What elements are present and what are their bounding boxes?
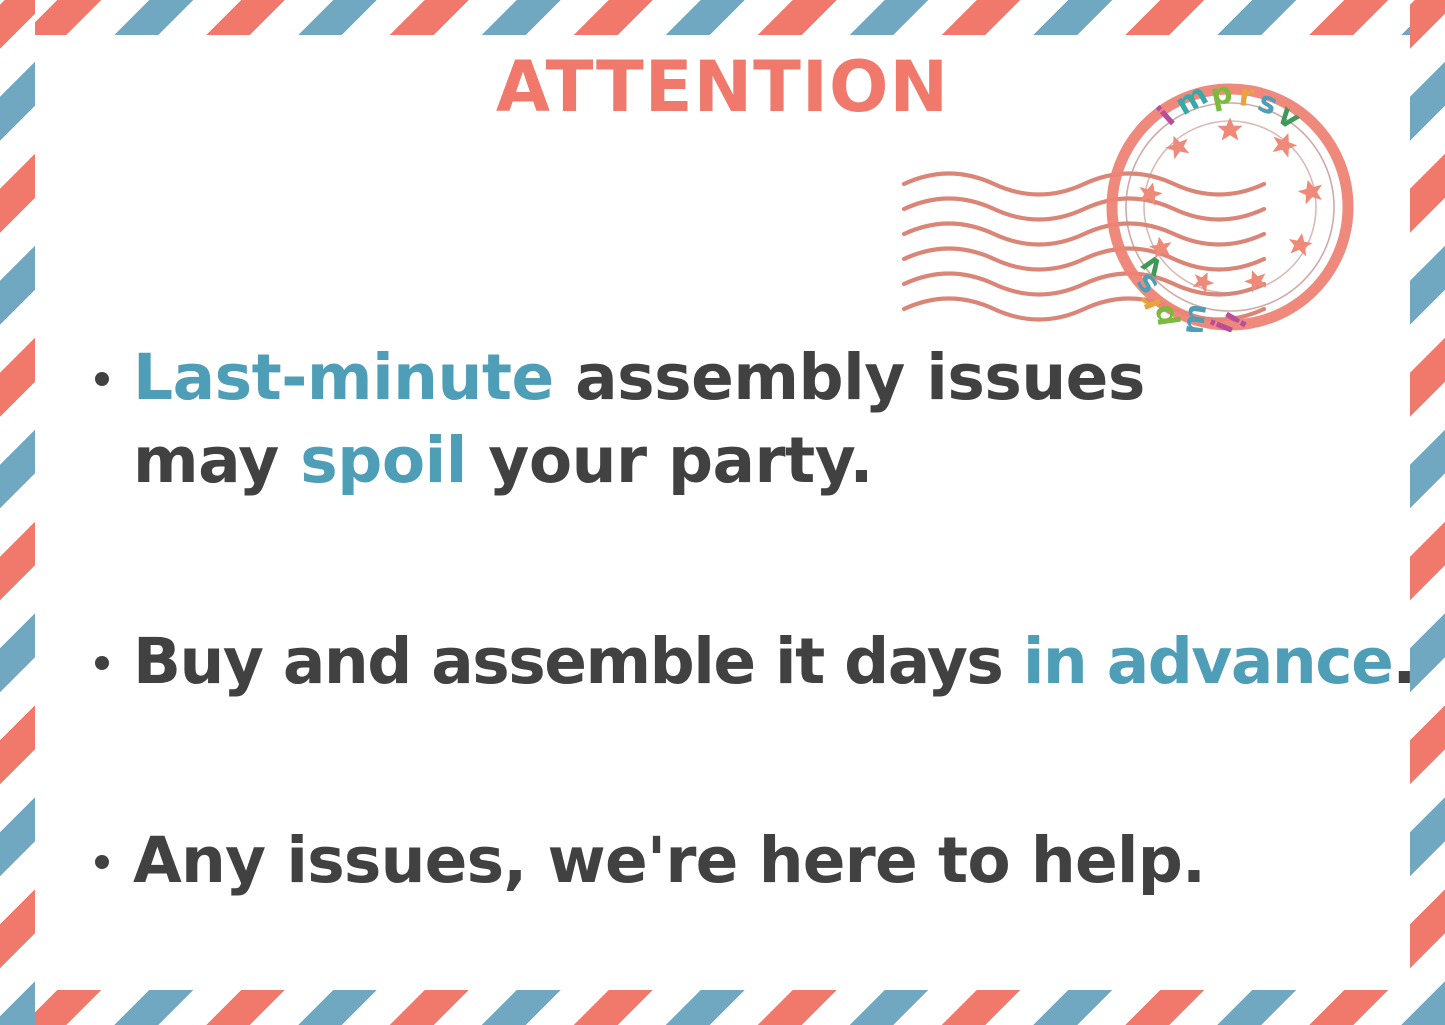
airmail-border-left [0, 0, 35, 1025]
bullet-list: Last-minute assembly issuesmay spoil you… [95, 336, 1395, 903]
text-assembly-issues: assembly issues [554, 341, 1145, 414]
list-item: Any issues, we're here to help. [95, 819, 1395, 902]
svg-text:r: r [1237, 82, 1256, 115]
text-may: may [133, 424, 300, 497]
bullet-text-last-minute: Last-minute assembly issuesmay spoil you… [133, 336, 1395, 502]
list-item: Buy and assemble it days in advance. [95, 620, 1395, 703]
airmail-border-bottom [0, 990, 1445, 1025]
airmail-border-top [0, 0, 1445, 35]
bullet-dot-icon [95, 372, 109, 386]
highlight-last-minute: Last-minute [133, 341, 554, 414]
airmail-border-right [1410, 0, 1445, 1025]
text-buy-and-assemble: Buy and assemble it days [133, 625, 1023, 698]
highlight-in-advance: in advance [1023, 625, 1393, 698]
postmark-stamp: i m p r s v v s r p m i ! [900, 82, 1370, 332]
attention-notice-card: ATTENTION [0, 0, 1445, 1025]
cancellation-lines [904, 174, 1264, 320]
bullet-text-here-to-help: Any issues, we're here to help. [133, 819, 1395, 902]
bullet-dot-icon [95, 855, 109, 869]
text-your-party: your party. [467, 424, 873, 497]
bullet-dot-icon [95, 656, 109, 670]
bullet-text-buy-in-advance: Buy and assemble it days in advance. [133, 620, 1415, 703]
text-period: . [1392, 625, 1414, 698]
list-item: Last-minute assembly issuesmay spoil you… [95, 336, 1395, 502]
highlight-spoil: spoil [300, 424, 467, 497]
